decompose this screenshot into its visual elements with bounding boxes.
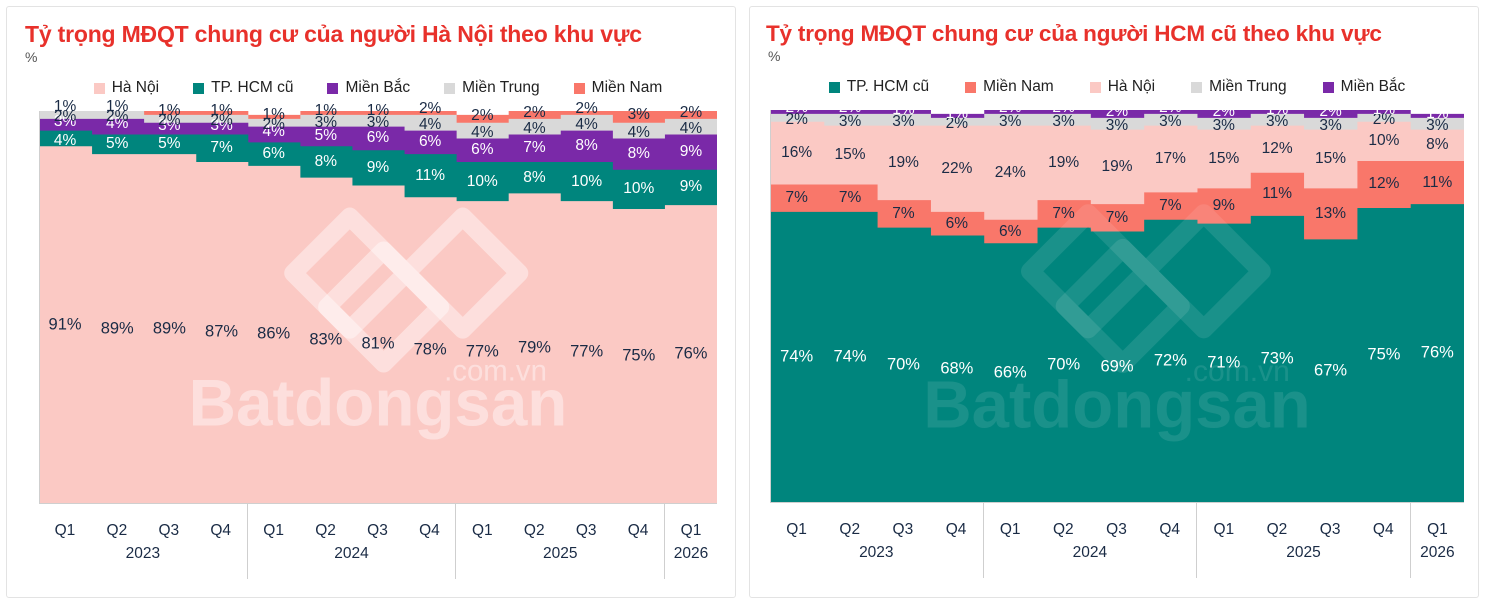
x-axis: Q1Q2Q3Q42023Q1Q2Q3Q42024Q1Q2Q3Q42025Q120…	[770, 502, 1464, 578]
x-axis-quarter-label: Q1	[39, 504, 91, 545]
x-axis-quarter-label: Q4	[612, 504, 664, 545]
x-axis-quarter-label: Q3	[1304, 503, 1357, 544]
page-title: Tỷ trọng MĐQT chung cư của người Hà Nội …	[7, 7, 735, 48]
x-axis-quarter-label: Q3	[143, 504, 195, 545]
legend-item[interactable]: Miền Nam	[574, 79, 663, 97]
dashboard-root: Tỷ trọng MĐQT chung cư của người Hà Nội …	[0, 0, 1485, 604]
x-axis: Q1Q2Q3Q42023Q1Q2Q3Q42024Q1Q2Q3Q42025Q120…	[39, 503, 717, 579]
x-axis-quarter-label: Q1	[248, 504, 300, 545]
legend-item[interactable]: TP. HCM cũ	[829, 78, 929, 96]
legend-item[interactable]: Miền Trung	[1191, 78, 1287, 96]
legend-swatch-icon	[444, 83, 455, 94]
chart-legend: Hà NộiTP. HCM cũMiền BắcMiền TrungMiền N…	[7, 79, 735, 97]
plot-area: .com.vnBatdongsan 74%74%70%68%66%70%69%7…	[770, 110, 1464, 502]
x-axis-quarter-label: Q4	[403, 504, 455, 545]
x-axis-quarter-label: Q2	[508, 504, 560, 545]
legend-swatch-icon	[1323, 82, 1334, 93]
legend-item[interactable]: TP. HCM cũ	[193, 79, 293, 97]
x-axis-quarter-label: Q3	[876, 503, 929, 544]
axis-unit-label: %	[7, 48, 735, 65]
x-axis-year-group: Q1Q2Q3Q42024	[247, 504, 456, 579]
legend-item[interactable]: Miền Bắc	[327, 79, 410, 97]
x-axis-year-label: 2024	[248, 545, 456, 579]
legend-item[interactable]: Hà Nội	[94, 79, 159, 97]
legend-item-label: Miền Trung	[462, 79, 540, 97]
legend-item[interactable]: Miền Nam	[965, 78, 1054, 96]
legend-swatch-icon	[829, 82, 840, 93]
page-title: Tỷ trọng MĐQT chung cư của người HCM cũ …	[750, 7, 1478, 47]
x-axis-quarter-label: Q1	[1197, 503, 1250, 544]
legend-item-label: Hà Nội	[1108, 78, 1155, 96]
x-axis-quarter-label: Q2	[823, 503, 876, 544]
legend-swatch-icon	[1090, 82, 1101, 93]
legend-item-label: TP. HCM cũ	[847, 78, 929, 96]
x-axis-year-group: Q1Q2Q3Q42025	[1196, 503, 1410, 578]
chart-legend: TP. HCM cũMiền NamHà NộiMiền TrungMiền B…	[750, 78, 1478, 96]
x-axis-year-label: 2024	[984, 544, 1197, 578]
legend-item-label: Hà Nội	[112, 79, 159, 97]
x-axis-quarter-label: Q3	[352, 504, 404, 545]
x-axis-quarter-label: Q4	[1357, 503, 1410, 544]
x-axis-year-group: Q1Q2Q3Q42025	[455, 504, 664, 579]
legend-item[interactable]: Miền Trung	[444, 79, 540, 97]
x-axis-year-group: Q12026	[664, 504, 717, 579]
legend-item[interactable]: Hà Nội	[1090, 78, 1155, 96]
x-axis-quarter-label: Q2	[1250, 503, 1303, 544]
stacked-area-plot	[771, 110, 1464, 502]
area-band-tphcmc	[771, 204, 1464, 502]
plot-area: .com.vnBatdongsan 91%89%89%87%86%83%81%7…	[39, 111, 717, 503]
x-axis-quarter-label: Q4	[195, 504, 247, 545]
legend-swatch-icon	[94, 83, 105, 94]
legend-swatch-icon	[327, 83, 338, 94]
legend-swatch-icon	[574, 83, 585, 94]
x-axis-year-group: Q1Q2Q3Q42023	[39, 504, 247, 579]
x-axis-quarter-label: Q1	[770, 503, 823, 544]
x-axis-quarter-label: Q1	[456, 504, 508, 545]
x-axis-year-group: Q12026	[1410, 503, 1464, 578]
x-axis-quarter-label: Q2	[91, 504, 143, 545]
x-axis-quarter-label: Q1	[665, 504, 717, 545]
x-axis-quarter-label: Q2	[300, 504, 352, 545]
legend-swatch-icon	[1191, 82, 1202, 93]
legend-item-label: Miền Nam	[983, 78, 1054, 96]
legend-item-label: TP. HCM cũ	[211, 79, 293, 97]
legend-item-label: Miền Trung	[1209, 78, 1287, 96]
x-axis-quarter-label: Q1	[1411, 503, 1464, 544]
x-axis-year-label: 2025	[1197, 544, 1410, 578]
stacked-area-plot	[40, 111, 717, 503]
legend-item-label: Miền Nam	[592, 79, 663, 97]
legend-swatch-icon	[193, 83, 204, 94]
x-axis-year-label: 2026	[1411, 544, 1464, 578]
x-axis-quarter-label: Q1	[984, 503, 1037, 544]
x-axis-quarter-label: Q2	[1037, 503, 1090, 544]
axis-unit-label: %	[750, 47, 1478, 64]
x-axis-quarter-label: Q4	[1143, 503, 1196, 544]
chart-panel-hcm: Tỷ trọng MĐQT chung cư của người HCM cũ …	[749, 6, 1479, 598]
x-axis-quarter-label: Q3	[560, 504, 612, 545]
legend-item[interactable]: Miền Bắc	[1323, 78, 1406, 96]
chart-panel-hanoi: Tỷ trọng MĐQT chung cư của người Hà Nội …	[6, 6, 736, 598]
x-axis-quarter-label: Q4	[929, 503, 982, 544]
legend-item-label: Miền Bắc	[345, 79, 410, 97]
x-axis-year-label: 2025	[456, 545, 664, 579]
legend-swatch-icon	[965, 82, 976, 93]
x-axis-year-label: 2023	[770, 544, 983, 578]
x-axis-year-group: Q1Q2Q3Q42023	[770, 503, 983, 578]
x-axis-year-label: 2026	[665, 545, 717, 579]
x-axis-year-label: 2023	[39, 545, 247, 579]
x-axis-year-group: Q1Q2Q3Q42024	[983, 503, 1197, 578]
x-axis-quarter-label: Q3	[1090, 503, 1143, 544]
legend-item-label: Miền Bắc	[1341, 78, 1406, 96]
